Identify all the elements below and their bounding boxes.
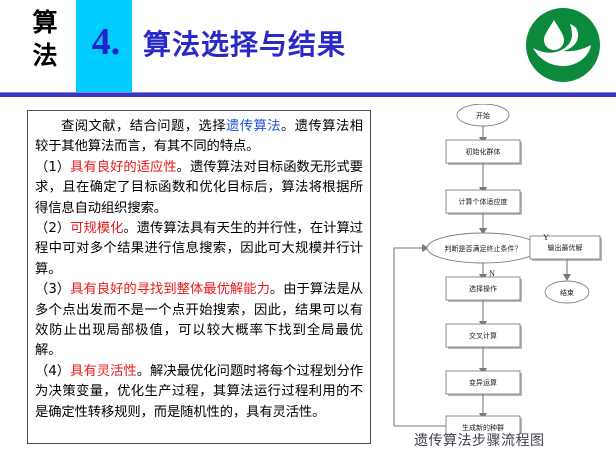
text-run-3-1: （2） (35, 221, 70, 236)
text-run-5-2: 具有灵活性 (70, 364, 137, 379)
content-paragraph-4: （3）具有良好的寻找到整体最优解能力。由于算法是从多个点出发而不是一个点开始搜索… (35, 280, 363, 362)
text-run-5-1: （4） (35, 364, 70, 379)
text-run-1-1: 查阅文献，结合问题，选择 (61, 119, 226, 134)
header-divider (0, 92, 616, 97)
text-run-3-2: 可规模化 (70, 221, 123, 236)
text-run-1-2: 遗传算法 (226, 119, 281, 134)
flow-node-decision: 判断是否满足终止条件？ (445, 244, 522, 253)
content-paragraph-1: 查阅文献，结合问题，选择遗传算法。遗传算法相较于其他算法而言，有其不同的特点。 (35, 117, 363, 158)
flow-node-start: 开始 (476, 111, 490, 120)
flow-node-mutation: 变异运算 (469, 378, 497, 387)
content-paragraph-3: （2）可规模化。遗传算法具有天生的并行性，在计算过程中可对多个结果进行信息搜索，… (35, 219, 363, 280)
flowchart-caption: 遗传算法步骤流程图 (414, 430, 545, 450)
slide-header: 算法 4. 算法选择与结果 (0, 0, 616, 94)
genetic-algorithm-flowchart: 开始 初始化群体 计算个体适应度 判断是否满足终止条件？ 输出最优解 结束 选择… (380, 104, 616, 434)
content-paragraph-2: （1）具有良好的适应性。遗传算法对目标函数无形式要求，且在确定了目标函数和优化目… (35, 158, 363, 219)
content-paragraph-5: （4）具有灵活性。解决最优化问题时将每个过程划分作为决策变量，优化生产过程，其算… (35, 362, 363, 423)
flow-branch-yes: Y (543, 233, 549, 242)
flow-branch-no: N (489, 269, 495, 278)
flow-node-crossover: 交叉计算 (469, 331, 497, 340)
header-section-number: 4. (80, 18, 132, 66)
text-run-2-1: （1） (35, 160, 70, 175)
flow-node-init: 初始化群体 (466, 147, 501, 156)
flow-node-fitness: 计算个体适应度 (459, 197, 508, 206)
text-run-2-2: 具有良好的适应性 (70, 160, 177, 175)
text-run-4-2: 具有良好的寻找到整体最优解能力 (70, 282, 270, 297)
page-title: 算法选择与结果 (143, 26, 346, 64)
flow-node-output: 输出最优解 (548, 243, 583, 252)
water-drop-logo (524, 6, 602, 84)
text-run-4-1: （3） (35, 282, 70, 297)
content-textbox: 查阅文献，结合问题，选择遗传算法。遗传算法相较于其他算法而言，有其不同的特点。（… (27, 110, 371, 444)
flow-node-end: 结束 (560, 288, 574, 297)
header-vertical-title: 算法 (23, 6, 67, 72)
flow-node-selection: 选择操作 (469, 284, 497, 293)
